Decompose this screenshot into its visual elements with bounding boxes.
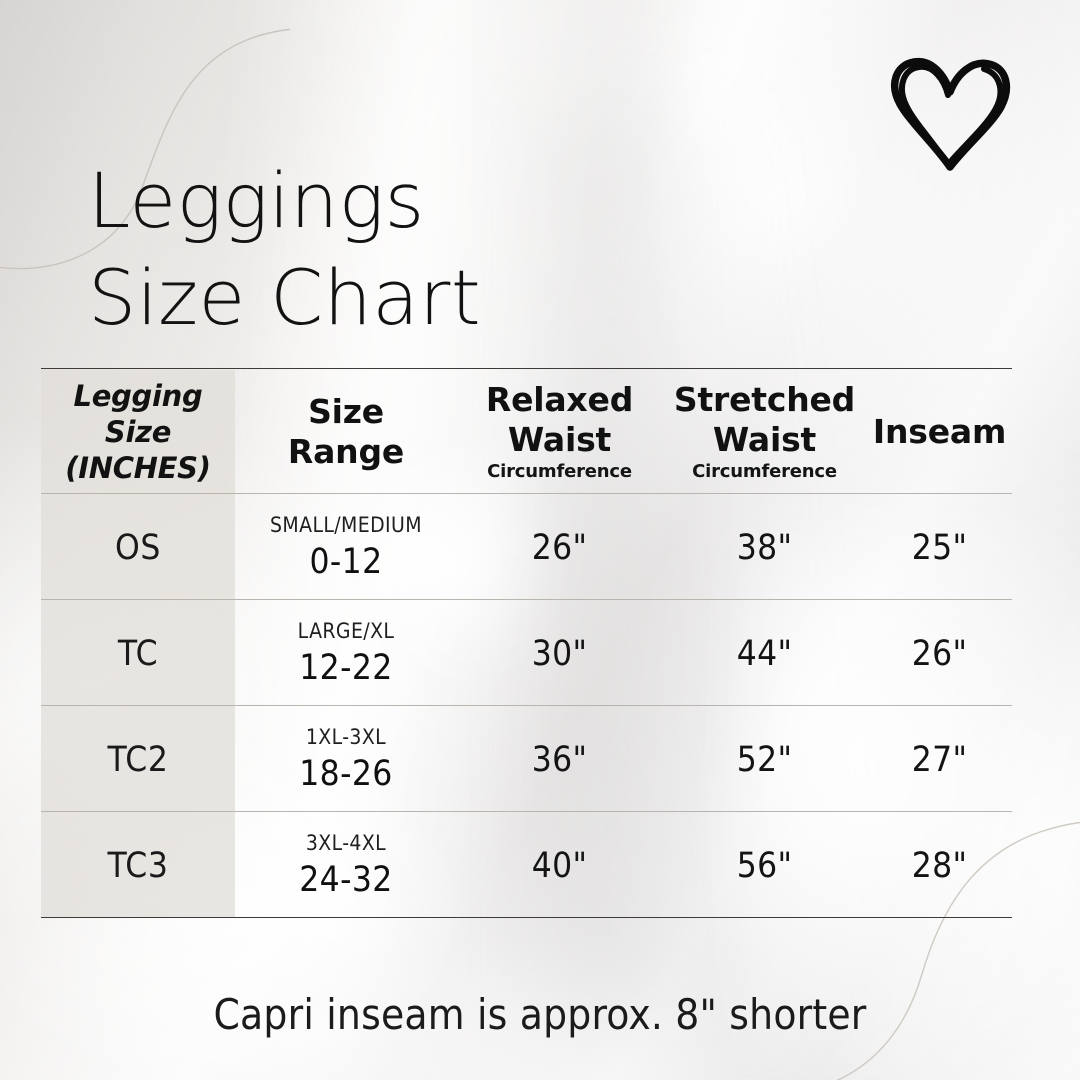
cell-stretched-waist: 44" xyxy=(662,634,867,674)
cell-size-range-value: 12-22 xyxy=(299,647,392,689)
column-header-stretched-waist-sub: Circumference xyxy=(692,461,837,483)
column-header-relaxed-waist-line1: Relaxed xyxy=(486,380,633,420)
cell-size-range-value: 24-32 xyxy=(299,859,392,901)
title-line-2: Size Chart xyxy=(88,249,708,346)
cell-relaxed-waist-value: 40" xyxy=(532,846,587,886)
column-header-size-range-line2: Range xyxy=(288,432,404,472)
cell-size-range-sub: LARGE/XL xyxy=(298,619,395,643)
cell-size: TC3 xyxy=(41,846,235,886)
column-header-legging-size-line1: Legging Size xyxy=(41,378,235,450)
cell-stretched-waist-value: 52" xyxy=(737,740,792,780)
cell-size-value: TC3 xyxy=(108,846,169,886)
cell-relaxed-waist: 40" xyxy=(457,846,662,886)
column-header-relaxed-waist: Relaxed Waist Circumference xyxy=(457,380,662,483)
cell-stretched-waist: 38" xyxy=(662,528,867,568)
column-header-stretched-waist: Stretched Waist Circumference xyxy=(662,380,867,483)
column-header-inseam: Inseam xyxy=(867,412,1012,452)
cell-relaxed-waist: 30" xyxy=(457,634,662,674)
cell-inseam: 25" xyxy=(867,528,1012,568)
cell-size: OS xyxy=(41,528,235,568)
column-header-size-range-line1: Size xyxy=(308,392,384,432)
cell-inseam: 26" xyxy=(867,634,1012,674)
page-title: Leggings Size Chart xyxy=(88,152,708,346)
column-header-inseam-line1: Inseam xyxy=(873,412,1006,452)
cell-stretched-waist: 56" xyxy=(662,846,867,886)
cell-size-range: SMALL/MEDIUM 0-12 xyxy=(235,513,457,583)
column-header-size-range: Size Range xyxy=(235,392,457,472)
cell-inseam-value: 26" xyxy=(912,634,967,674)
column-header-stretched-waist-line1: Stretched xyxy=(674,380,855,420)
cell-relaxed-waist: 36" xyxy=(457,740,662,780)
cell-size: TC xyxy=(41,634,235,674)
cell-size-range-value: 18-26 xyxy=(299,753,392,795)
cell-stretched-waist-value: 56" xyxy=(737,846,792,886)
column-header-legging-size: Legging Size (INCHES) xyxy=(41,378,235,486)
cell-size-range-sub: 1XL-3XL xyxy=(306,725,386,749)
table-header-row: Legging Size (INCHES) Size Range Relaxed… xyxy=(41,370,1012,493)
size-chart-table: Legging Size (INCHES) Size Range Relaxed… xyxy=(41,368,1012,919)
cell-size-value: OS xyxy=(115,528,161,568)
cell-size-value: TC2 xyxy=(108,740,169,780)
table-row: TC3 3XL-4XL 24-32 40" 56" 28" xyxy=(41,813,1012,919)
cell-size-range-value: 0-12 xyxy=(309,541,382,583)
cell-size: TC2 xyxy=(41,740,235,780)
cell-inseam: 27" xyxy=(867,740,1012,780)
cell-inseam-value: 28" xyxy=(912,846,967,886)
table-row: TC LARGE/XL 12-22 30" 44" 26" xyxy=(41,601,1012,707)
column-header-legging-size-line2: (INCHES) xyxy=(65,450,210,486)
cell-size-range: LARGE/XL 12-22 xyxy=(235,619,457,689)
cell-size-range: 1XL-3XL 18-26 xyxy=(235,725,457,795)
cell-size-value: TC xyxy=(118,634,158,674)
column-header-relaxed-waist-line2: Waist xyxy=(508,420,611,460)
footer-note: Capri inseam is approx. 8" shorter xyxy=(0,989,1080,1041)
cell-stretched-waist-value: 44" xyxy=(737,634,792,674)
table-row: TC2 1XL-3XL 18-26 36" 52" 27" xyxy=(41,707,1012,813)
cell-relaxed-waist-value: 36" xyxy=(532,740,587,780)
cell-relaxed-waist-value: 30" xyxy=(532,634,587,674)
title-line-1: Leggings xyxy=(88,152,708,249)
cell-inseam-value: 27" xyxy=(912,740,967,780)
cell-stretched-waist-value: 38" xyxy=(737,528,792,568)
cell-inseam: 28" xyxy=(867,846,1012,886)
table-row: OS SMALL/MEDIUM 0-12 26" 38" 25" xyxy=(41,495,1012,601)
cell-relaxed-waist: 26" xyxy=(457,528,662,568)
column-header-stretched-waist-line2: Waist xyxy=(713,420,816,460)
column-header-relaxed-waist-sub: Circumference xyxy=(487,461,632,483)
cell-stretched-waist: 52" xyxy=(662,740,867,780)
cell-size-range-sub: 3XL-4XL xyxy=(306,831,386,855)
size-chart-graphic: Leggings Size Chart Legging Size (INCHES… xyxy=(0,0,1080,1080)
cell-relaxed-waist-value: 26" xyxy=(532,528,587,568)
table-grid: Legging Size (INCHES) Size Range Relaxed… xyxy=(41,368,1012,919)
cell-size-range-sub: SMALL/MEDIUM xyxy=(270,513,422,537)
cell-inseam-value: 25" xyxy=(912,528,967,568)
cell-size-range: 3XL-4XL 24-32 xyxy=(235,831,457,901)
heart-icon xyxy=(884,52,1014,174)
